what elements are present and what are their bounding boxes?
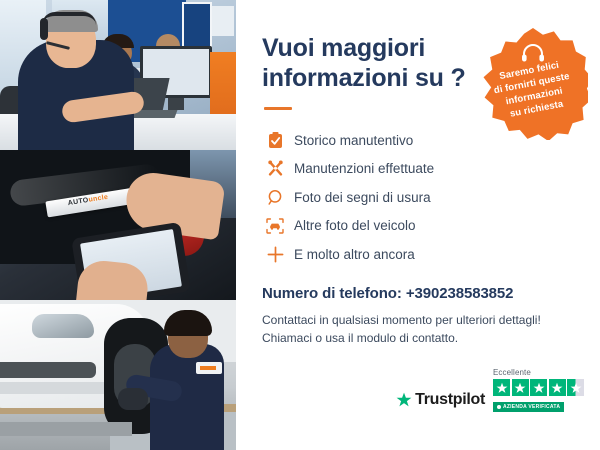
headset-band-shape: [42, 12, 96, 25]
headline-line-1: Vuoi maggiori: [262, 34, 425, 62]
list-item: E molto altro ancora: [262, 240, 582, 269]
paint-measure-photo: AUTOuncle: [0, 150, 236, 300]
trustpilot-star-icon: [396, 392, 412, 408]
trustpilot-widget[interactable]: Trustpilot Eccellente: [396, 368, 584, 414]
promo-badge: Saremo felici di fornirti queste informa…: [478, 28, 588, 140]
status-badge: AZIENDA VERIFICATA: [493, 402, 564, 412]
feature-list: Storico manutentivo Manutenzioni effettu…: [262, 126, 582, 269]
trustpilot-logo: Trustpilot: [396, 391, 485, 414]
crossed-tools-icon: [262, 160, 288, 177]
content-panel: Vuoi maggiori informazioni su ? Saremo f…: [236, 0, 600, 450]
wall-poster-2: [212, 6, 234, 36]
list-item-label: Altre foto del veicolo: [288, 218, 416, 233]
list-item-label: Manutenzioni effettuate: [288, 161, 434, 176]
trustpilot-wordmark: Trustpilot: [415, 391, 485, 409]
contact-subtext-line-1: Contattaci in qualsiasi momento per ulte…: [262, 313, 541, 327]
mechanic-glove-shape: [118, 388, 148, 410]
magnifier-icon: [262, 189, 288, 206]
mechanic-wheel-photo: [0, 300, 236, 450]
phone-number[interactable]: +390238583852: [406, 285, 514, 302]
car-frame-icon: [262, 218, 288, 234]
phone-line: Numero di telefono: +390238583852: [262, 285, 582, 302]
advertisement-banner: AUTOuncle Vuoi maggio: [0, 0, 600, 450]
bumper-shape: [0, 382, 120, 394]
star-1: [493, 379, 510, 396]
title-divider: [264, 107, 292, 110]
trustpilot-stars: [493, 379, 584, 396]
call-center-photo: [0, 0, 236, 150]
list-item: Manutenzioni effettuate: [262, 155, 582, 184]
contact-subtext: Contattaci in qualsiasi momento per ulte…: [262, 311, 582, 347]
star-3: [530, 379, 547, 396]
headline-line-2: informazioni su ?: [262, 64, 466, 92]
grille-shape: [0, 362, 96, 378]
headlight-shape: [32, 314, 94, 338]
phone-label: Numero di telefono:: [262, 285, 402, 302]
contact-subtext-line-2: Chiamaci o usa il modulo di contatto.: [262, 331, 458, 345]
list-item: Altre foto del veicolo: [262, 212, 582, 241]
car-lift-shape: [0, 422, 132, 436]
star-2: [512, 379, 529, 396]
headset-earcup-shape: [40, 18, 48, 40]
monitor-stand-shape: [168, 98, 184, 110]
list-item-label: Storico manutentivo: [288, 133, 413, 148]
verified-label: AZIENDA VERIFICATA: [503, 404, 560, 410]
list-item: Foto dei segni di usura: [262, 183, 582, 212]
headset-icon: [521, 44, 545, 62]
verified-check-icon: [497, 405, 501, 409]
wall-poster: [182, 2, 212, 52]
clipboard-check-icon: [262, 132, 288, 149]
list-item-label: E molto altro ancora: [288, 247, 415, 262]
plus-icon: [262, 246, 288, 263]
page-title: Vuoi maggiori informazioni su ?: [262, 0, 477, 93]
list-item-label: Foto dei segni di usura: [288, 190, 431, 205]
trustpilot-rating-label: Eccellente: [493, 368, 584, 377]
star-4: [549, 379, 566, 396]
trustpilot-rating-block: Eccellente: [493, 368, 584, 414]
photo-column: AUTOuncle: [0, 0, 236, 450]
uniform-logo-shape: [196, 362, 222, 374]
star-5-half: [567, 379, 584, 396]
